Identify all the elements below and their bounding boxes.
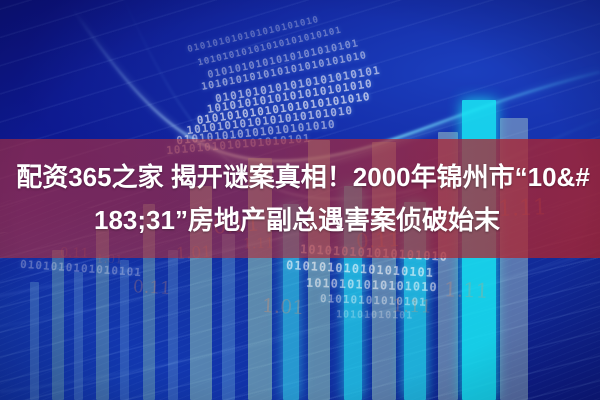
headline-line-1: 配资365之家 揭开谜案真相！2000年锦州市“10&# bbox=[16, 156, 590, 199]
bar-9 bbox=[222, 234, 235, 400]
bar-2 bbox=[52, 250, 64, 400]
bar-3 bbox=[74, 272, 83, 400]
bar-5 bbox=[120, 260, 129, 400]
headline-line-2: 183;31”房地产副总遇害案侦破始末 bbox=[94, 199, 500, 242]
headline-block: 配资365之家 揭开谜案真相！2000年锦州市“10&# 183;31”房地产副… bbox=[0, 139, 600, 258]
bar-7 bbox=[168, 250, 178, 400]
bar-1 bbox=[30, 282, 39, 400]
article-banner-image: 0101010101010101010101010101010101010101… bbox=[0, 0, 600, 400]
